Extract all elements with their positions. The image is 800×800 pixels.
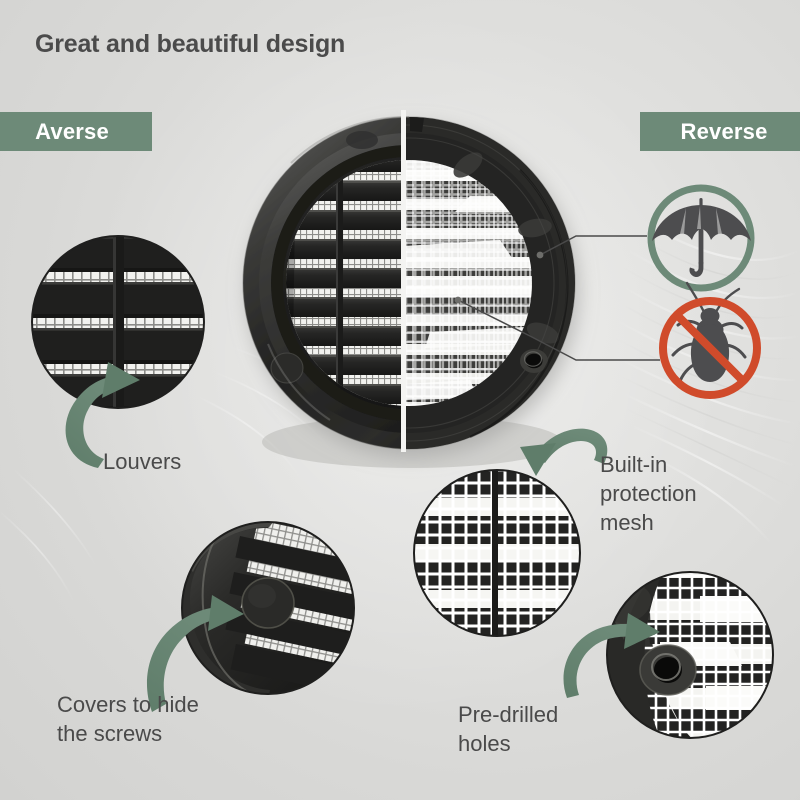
umbrella-icon[interactable] bbox=[651, 188, 751, 288]
label-pre-drilled-holes: Pre-drilled holes bbox=[458, 700, 558, 758]
feature-icons bbox=[0, 0, 800, 800]
label-covers-to-hide-the-screws: Covers to hide the screws bbox=[57, 690, 199, 748]
no-insects-icon[interactable] bbox=[663, 283, 757, 395]
infographic-canvas: Great and beautiful design Averse Revers… bbox=[0, 0, 800, 800]
label-built-in-protection-mesh: Built-in protection mesh bbox=[600, 450, 697, 537]
label-louvers: Louvers bbox=[103, 447, 181, 476]
